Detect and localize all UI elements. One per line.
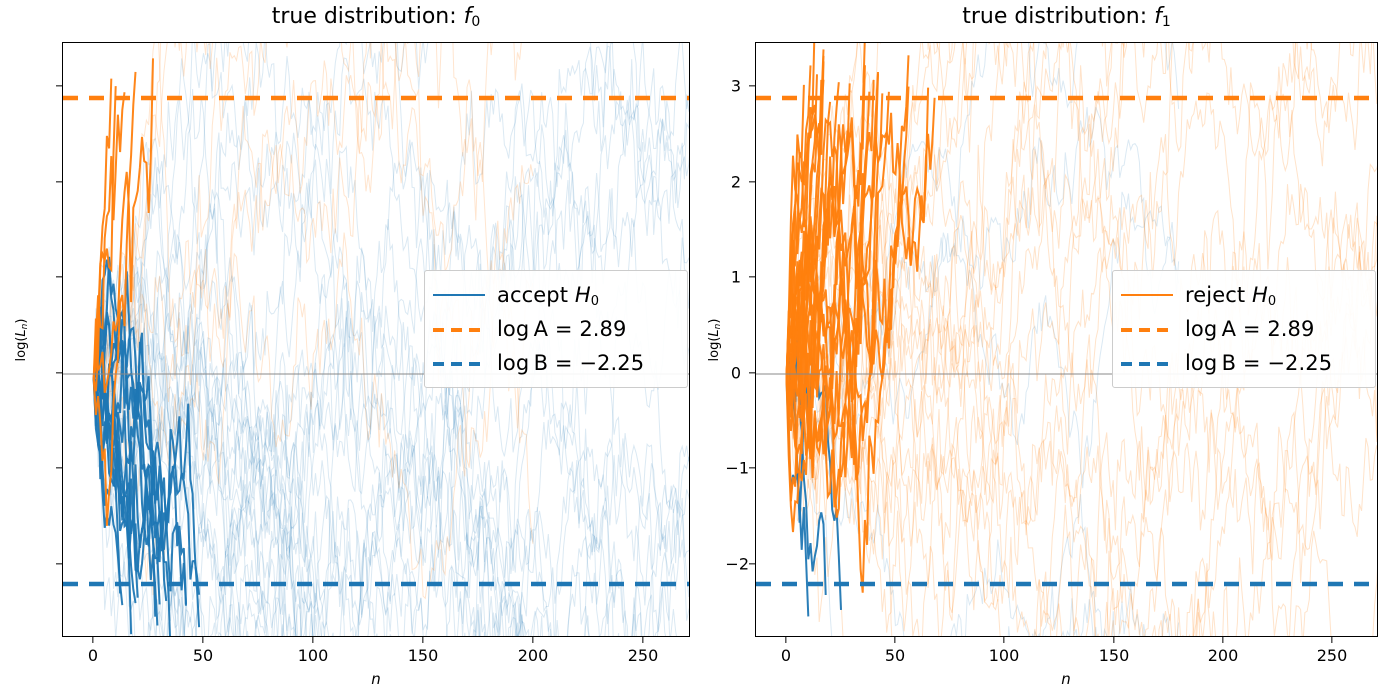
ytick-label: 3 [731, 77, 741, 96]
ytick-label: 2 [731, 173, 741, 192]
legend-label-logB-text: log B = −2.25 [497, 351, 644, 375]
xtick-label: 150 [1099, 646, 1130, 665]
figure-canvas: true distribution: f0 3 2 [0, 0, 1389, 690]
ytick-label: −2 [725, 555, 749, 574]
ytick-mark [749, 276, 755, 277]
legend-label-reject-text: reject [1185, 283, 1252, 307]
panel-left: true distribution: f0 3 2 [0, 0, 694, 690]
xtick-label: 200 [518, 646, 549, 665]
panel-left-title: true distribution: f0 [62, 4, 690, 29]
legend-row-logB[interactable]: log B = −2.25 [433, 346, 677, 380]
legend-label-logA: log A = 2.89 [1185, 317, 1314, 341]
panel-right-title: true distribution: f1 [755, 4, 1378, 29]
xtick-label: 50 [193, 646, 213, 665]
legend-label-logB: log B = −2.25 [497, 351, 644, 375]
xtick-mark [1113, 637, 1114, 643]
xtick-label: 50 [885, 646, 905, 665]
legend-label-logA: log A = 2.89 [497, 317, 626, 341]
xtick-mark [785, 637, 786, 643]
ytick-label: 1 [731, 268, 741, 287]
legend-label-logA-text: log A = 2.89 [497, 317, 626, 341]
legend-label-logB: log B = −2.25 [1185, 351, 1332, 375]
panel-left-title-subscript: 0 [471, 14, 480, 30]
legend-label-logA-text: log A = 2.89 [1185, 317, 1314, 341]
xtick-label: 100 [298, 646, 329, 665]
ytick-mark [56, 85, 62, 86]
ytick-label: −1 [725, 459, 749, 478]
xtick-label: 0 [88, 646, 98, 665]
ytick-mark [56, 181, 62, 182]
ytick-mark [749, 563, 755, 564]
xtick-label: 200 [1208, 646, 1239, 665]
ytick-mark [749, 372, 755, 373]
xtick-mark [1331, 637, 1332, 643]
xtick-label: 0 [781, 646, 791, 665]
panel-right-title-text: true distribution: [962, 4, 1154, 29]
legend-row-accept[interactable]: accept H0 [433, 278, 677, 312]
panel-left-title-text: true distribution: [272, 4, 464, 29]
xtick-mark [532, 637, 533, 643]
legend-label-accept-text: accept [497, 283, 575, 307]
legend-label-reject-subscript: 0 [1268, 294, 1276, 309]
ytick-mark [749, 467, 755, 468]
panel-right-title-symbol: f [1154, 4, 1162, 29]
axis-xlabel-left: n [371, 670, 381, 688]
xtick-label: 250 [1317, 646, 1348, 665]
ytick-mark [56, 276, 62, 277]
legend-label-reject-symbol: H [1252, 283, 1268, 307]
legend-row-logA[interactable]: log A = 2.89 [1121, 312, 1365, 346]
axis-ylabel-right: log(Ln) [707, 319, 722, 362]
ytick-mark [749, 85, 755, 86]
axis-xlabel-right-text: n [1061, 670, 1071, 688]
xtick-mark [92, 637, 93, 643]
xtick-mark [642, 637, 643, 643]
axis-xlabel-left-text: n [371, 670, 381, 688]
xtick-label: 250 [628, 646, 659, 665]
xtick-mark [1222, 637, 1223, 643]
xtick-mark [894, 637, 895, 643]
legend-label-logB-text: log B = −2.25 [1185, 351, 1332, 375]
legend-label-accept: accept H0 [497, 283, 599, 307]
xtick-mark [312, 637, 313, 643]
legend-row-logB[interactable]: log B = −2.25 [1121, 346, 1365, 380]
ytick-mark [56, 467, 62, 468]
legend-row-reject[interactable]: reject H0 [1121, 278, 1365, 312]
xtick-label: 100 [989, 646, 1020, 665]
axis-ylabel-left: log(Ln) [14, 319, 29, 362]
ytick-mark [56, 563, 62, 564]
legend-row-logA[interactable]: log A = 2.89 [433, 312, 677, 346]
legend-left[interactable]: accept H0 log A = 2.89 log B = −2.25 [424, 270, 688, 388]
ytick-label: 0 [731, 364, 741, 383]
xtick-label: 150 [408, 646, 439, 665]
axis-xlabel-right: n [1061, 670, 1071, 688]
legend-right[interactable]: reject H0 log A = 2.89 log B = −2.25 [1112, 270, 1376, 388]
panel-right-title-subscript: 1 [1162, 14, 1171, 30]
ytick-mark [749, 181, 755, 182]
xtick-mark [1003, 637, 1004, 643]
xtick-mark [422, 637, 423, 643]
legend-label-reject: reject H0 [1185, 283, 1276, 307]
legend-label-accept-subscript: 0 [591, 294, 599, 309]
legend-label-accept-symbol: H [575, 283, 591, 307]
ytick-mark [56, 372, 62, 373]
xtick-mark [202, 637, 203, 643]
panel-right: true distribution: f1 3 2 1 [694, 0, 1389, 690]
